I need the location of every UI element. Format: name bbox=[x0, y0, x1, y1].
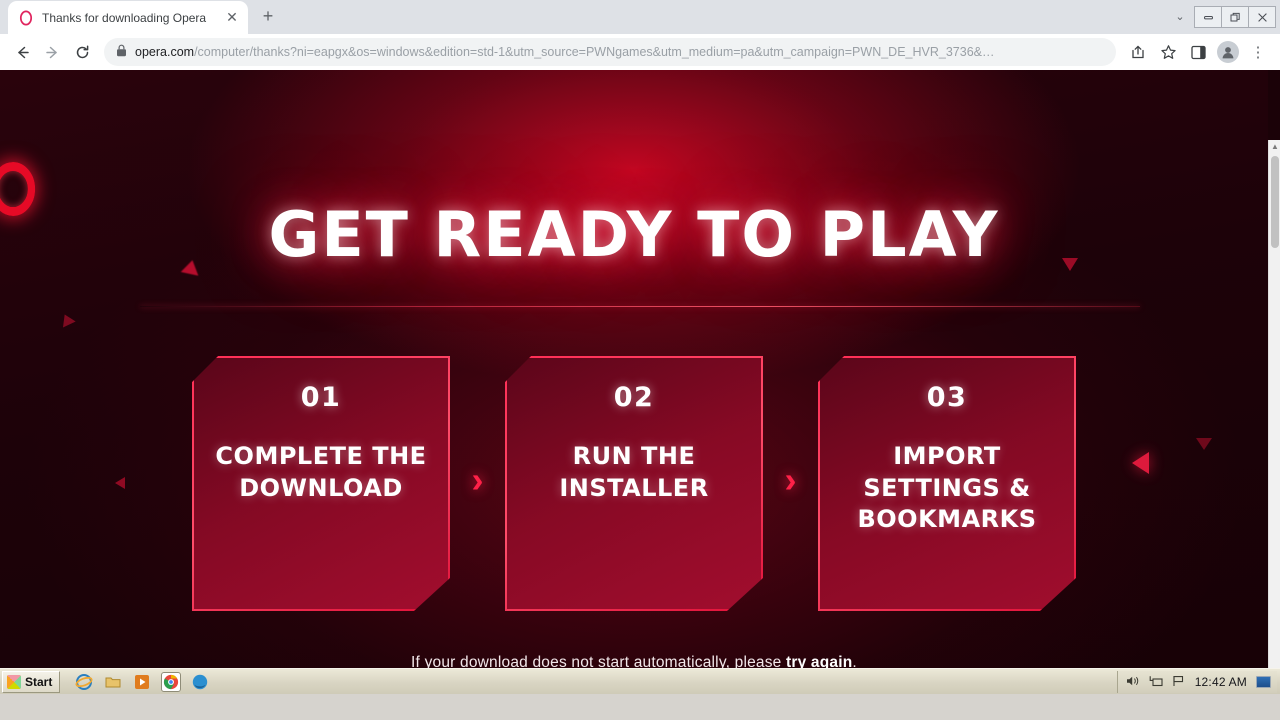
chevron-down-icon[interactable]: ⌄ bbox=[1165, 2, 1195, 32]
step-card-2: 02 RUN THE INSTALLER bbox=[505, 356, 763, 611]
step-label: IMPORT SETTINGS & BOOKMARKS bbox=[840, 441, 1055, 536]
internet-explorer-icon[interactable] bbox=[74, 672, 94, 692]
chevron-right-icon: › bbox=[763, 462, 818, 498]
tab-strip: Thanks for downloading Opera ✕ + ⌄ bbox=[0, 0, 1280, 34]
browser-toolbar: opera.com/computer/thanks?ni=eapgx&os=wi… bbox=[0, 34, 1280, 70]
page-viewport: GET READY TO PLAY 01 COMPLETE THE DOWNLO… bbox=[0, 70, 1280, 694]
start-button[interactable]: Start bbox=[2, 671, 60, 693]
step-card-1: 01 COMPLETE THE DOWNLOAD bbox=[192, 356, 450, 611]
restore-button[interactable] bbox=[1221, 6, 1249, 28]
url-host: opera.com bbox=[135, 45, 194, 59]
step-label: COMPLETE THE DOWNLOAD bbox=[214, 441, 429, 504]
tab-title: Thanks for downloading Opera bbox=[42, 11, 224, 25]
chrome-icon[interactable] bbox=[161, 672, 181, 692]
address-bar[interactable]: opera.com/computer/thanks?ni=eapgx&os=wi… bbox=[104, 38, 1116, 66]
windows-logo-icon bbox=[7, 675, 21, 689]
forward-button[interactable] bbox=[38, 38, 66, 66]
step-label: RUN THE INSTALLER bbox=[527, 441, 742, 504]
back-button[interactable] bbox=[8, 38, 36, 66]
chevron-right-icon: › bbox=[450, 462, 505, 498]
url-path: /computer/thanks?ni=eapgx&os=windows&edi… bbox=[194, 45, 994, 59]
step-card-3: 03 IMPORT SETTINGS & BOOKMARKS bbox=[818, 356, 1076, 611]
reload-button[interactable] bbox=[68, 38, 96, 66]
browser-tab[interactable]: Thanks for downloading Opera ✕ bbox=[8, 1, 248, 34]
opera-favicon bbox=[18, 10, 34, 26]
scroll-up-arrow[interactable]: ▲ bbox=[1269, 140, 1280, 154]
share-icon[interactable] bbox=[1124, 38, 1152, 66]
system-tray: 12:42 AM bbox=[1117, 671, 1277, 693]
edge-icon[interactable] bbox=[190, 672, 210, 692]
scrollbar-thumb[interactable] bbox=[1271, 156, 1279, 248]
quick-launch-bar bbox=[74, 672, 210, 692]
browser-menu-button[interactable]: ⋮ bbox=[1244, 38, 1272, 66]
tab-strip-right: ⌄ bbox=[1165, 0, 1280, 34]
clock[interactable]: 12:42 AM bbox=[1195, 675, 1247, 689]
window-controls bbox=[1195, 6, 1276, 28]
decorative-triangle bbox=[58, 312, 75, 328]
new-tab-button[interactable]: + bbox=[254, 3, 282, 31]
side-panel-icon[interactable] bbox=[1184, 38, 1212, 66]
minimize-button[interactable] bbox=[1194, 6, 1222, 28]
avatar bbox=[1217, 41, 1239, 63]
step-number: 03 bbox=[927, 382, 968, 413]
volume-icon[interactable] bbox=[1126, 675, 1140, 689]
divider bbox=[140, 306, 1140, 307]
page-title: GET READY TO PLAY bbox=[0, 198, 1268, 271]
lock-icon bbox=[116, 44, 127, 60]
network-icon[interactable] bbox=[1149, 675, 1163, 689]
steps-container: 01 COMPLETE THE DOWNLOAD › 02 RUN THE IN… bbox=[0, 356, 1268, 611]
taskbar: Start bbox=[0, 668, 1280, 694]
opera-thanks-page: GET READY TO PLAY 01 COMPLETE THE DOWNLO… bbox=[0, 70, 1268, 694]
page-scrollbar[interactable]: ▲ ▼ bbox=[1268, 140, 1280, 694]
step-number: 01 bbox=[301, 382, 342, 413]
start-button-label: Start bbox=[25, 675, 52, 689]
bookmark-star-icon[interactable] bbox=[1154, 38, 1182, 66]
close-button[interactable] bbox=[1248, 6, 1276, 28]
url-text: opera.com/computer/thanks?ni=eapgx&os=wi… bbox=[135, 45, 994, 59]
display-icon[interactable] bbox=[1256, 676, 1271, 688]
browser-window: Thanks for downloading Opera ✕ + ⌄ bbox=[0, 0, 1280, 694]
step-number: 02 bbox=[614, 382, 655, 413]
close-icon[interactable]: ✕ bbox=[224, 10, 240, 26]
profile-avatar[interactable] bbox=[1214, 38, 1242, 66]
flag-icon[interactable] bbox=[1172, 675, 1186, 689]
show-desktop-icon[interactable] bbox=[103, 672, 123, 692]
media-player-icon[interactable] bbox=[132, 672, 152, 692]
